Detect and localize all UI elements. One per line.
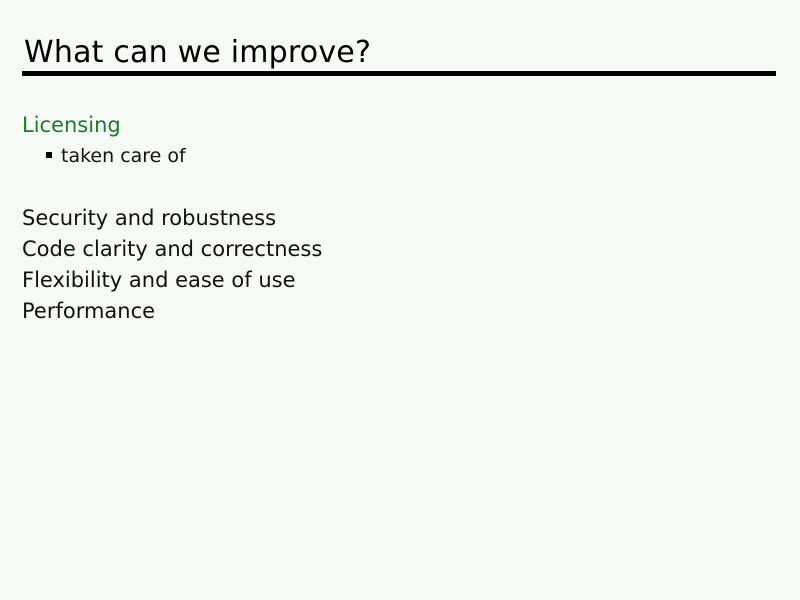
body-line-flexibility-and-ease-of-use: Flexibility and ease of use [22,265,762,296]
slide-title: What can we improve? [24,36,371,69]
title-underline-rule [22,71,776,76]
body-sub-item-label: taken care of [61,141,186,172]
slide-body: Licensing taken care of Security and rob… [22,110,762,327]
body-sub-item-taken-care-of: taken care of [22,141,762,172]
body-line-performance: Performance [22,296,762,327]
presentation-slide: What can we improve? Licensing taken car… [0,0,800,600]
square-bullet-icon [46,152,52,158]
body-line-security-and-robustness: Security and robustness [22,203,762,234]
body-line-licensing: Licensing [22,110,762,141]
body-line-code-clarity-and-correctness: Code clarity and correctness [22,234,762,265]
body-blank-line [22,172,762,203]
